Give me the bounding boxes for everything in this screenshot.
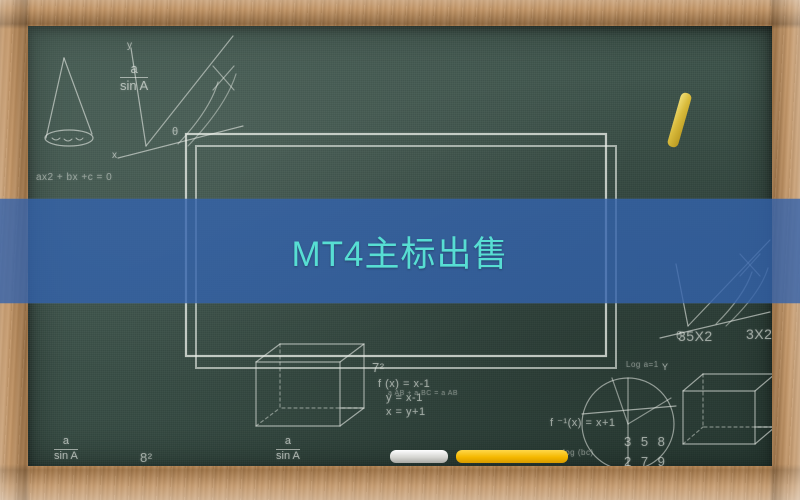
inverse-function: f ⁻¹(x) = x+1 — [550, 416, 616, 429]
quadratic-equation: ax2 + bx +c = 0 — [36, 172, 112, 183]
fraction-a-over-sinA-bottomcenter: a sin A — [276, 436, 300, 462]
angle-theta-topleft: θ — [172, 126, 179, 138]
eight-squared: 8² — [140, 450, 153, 465]
multiply-3x2: 3X2 — [746, 326, 772, 342]
chalkboard-banner-image: a sin A y x θ ax2 + bx +c = 0 θ 35X2 3X2… — [0, 0, 800, 500]
axis-label-x-topleft: x — [112, 150, 118, 161]
title-banner: MT4主标出售 — [0, 199, 800, 303]
yellow-chalk-ledge — [456, 450, 568, 463]
addition-addend-2: 2 7 9 — [624, 454, 668, 466]
function-line-3: x = y+1 — [386, 406, 426, 418]
axis-label-y-topleft: y — [127, 40, 133, 51]
fraction-a-over-sinA-topleft: a sin A — [120, 62, 148, 92]
multiply-35x2: 35X2 — [678, 328, 713, 344]
axis-label-y-right: Y — [662, 362, 669, 372]
white-chalk-ledge — [390, 450, 448, 463]
vector-expression: a AB + a BC = a AB — [388, 390, 458, 397]
fraction-a-over-sinA-bottomleft: a sin A — [54, 436, 78, 462]
seven-squared: 7² — [372, 360, 385, 375]
addition-addend-1: 3 5 8 — [624, 434, 668, 449]
banner-title-text: MT4主标出售 — [291, 226, 508, 277]
function-line-1: f (x) = x-1 — [378, 378, 430, 390]
log-label-right: Log a=1 — [626, 360, 659, 369]
